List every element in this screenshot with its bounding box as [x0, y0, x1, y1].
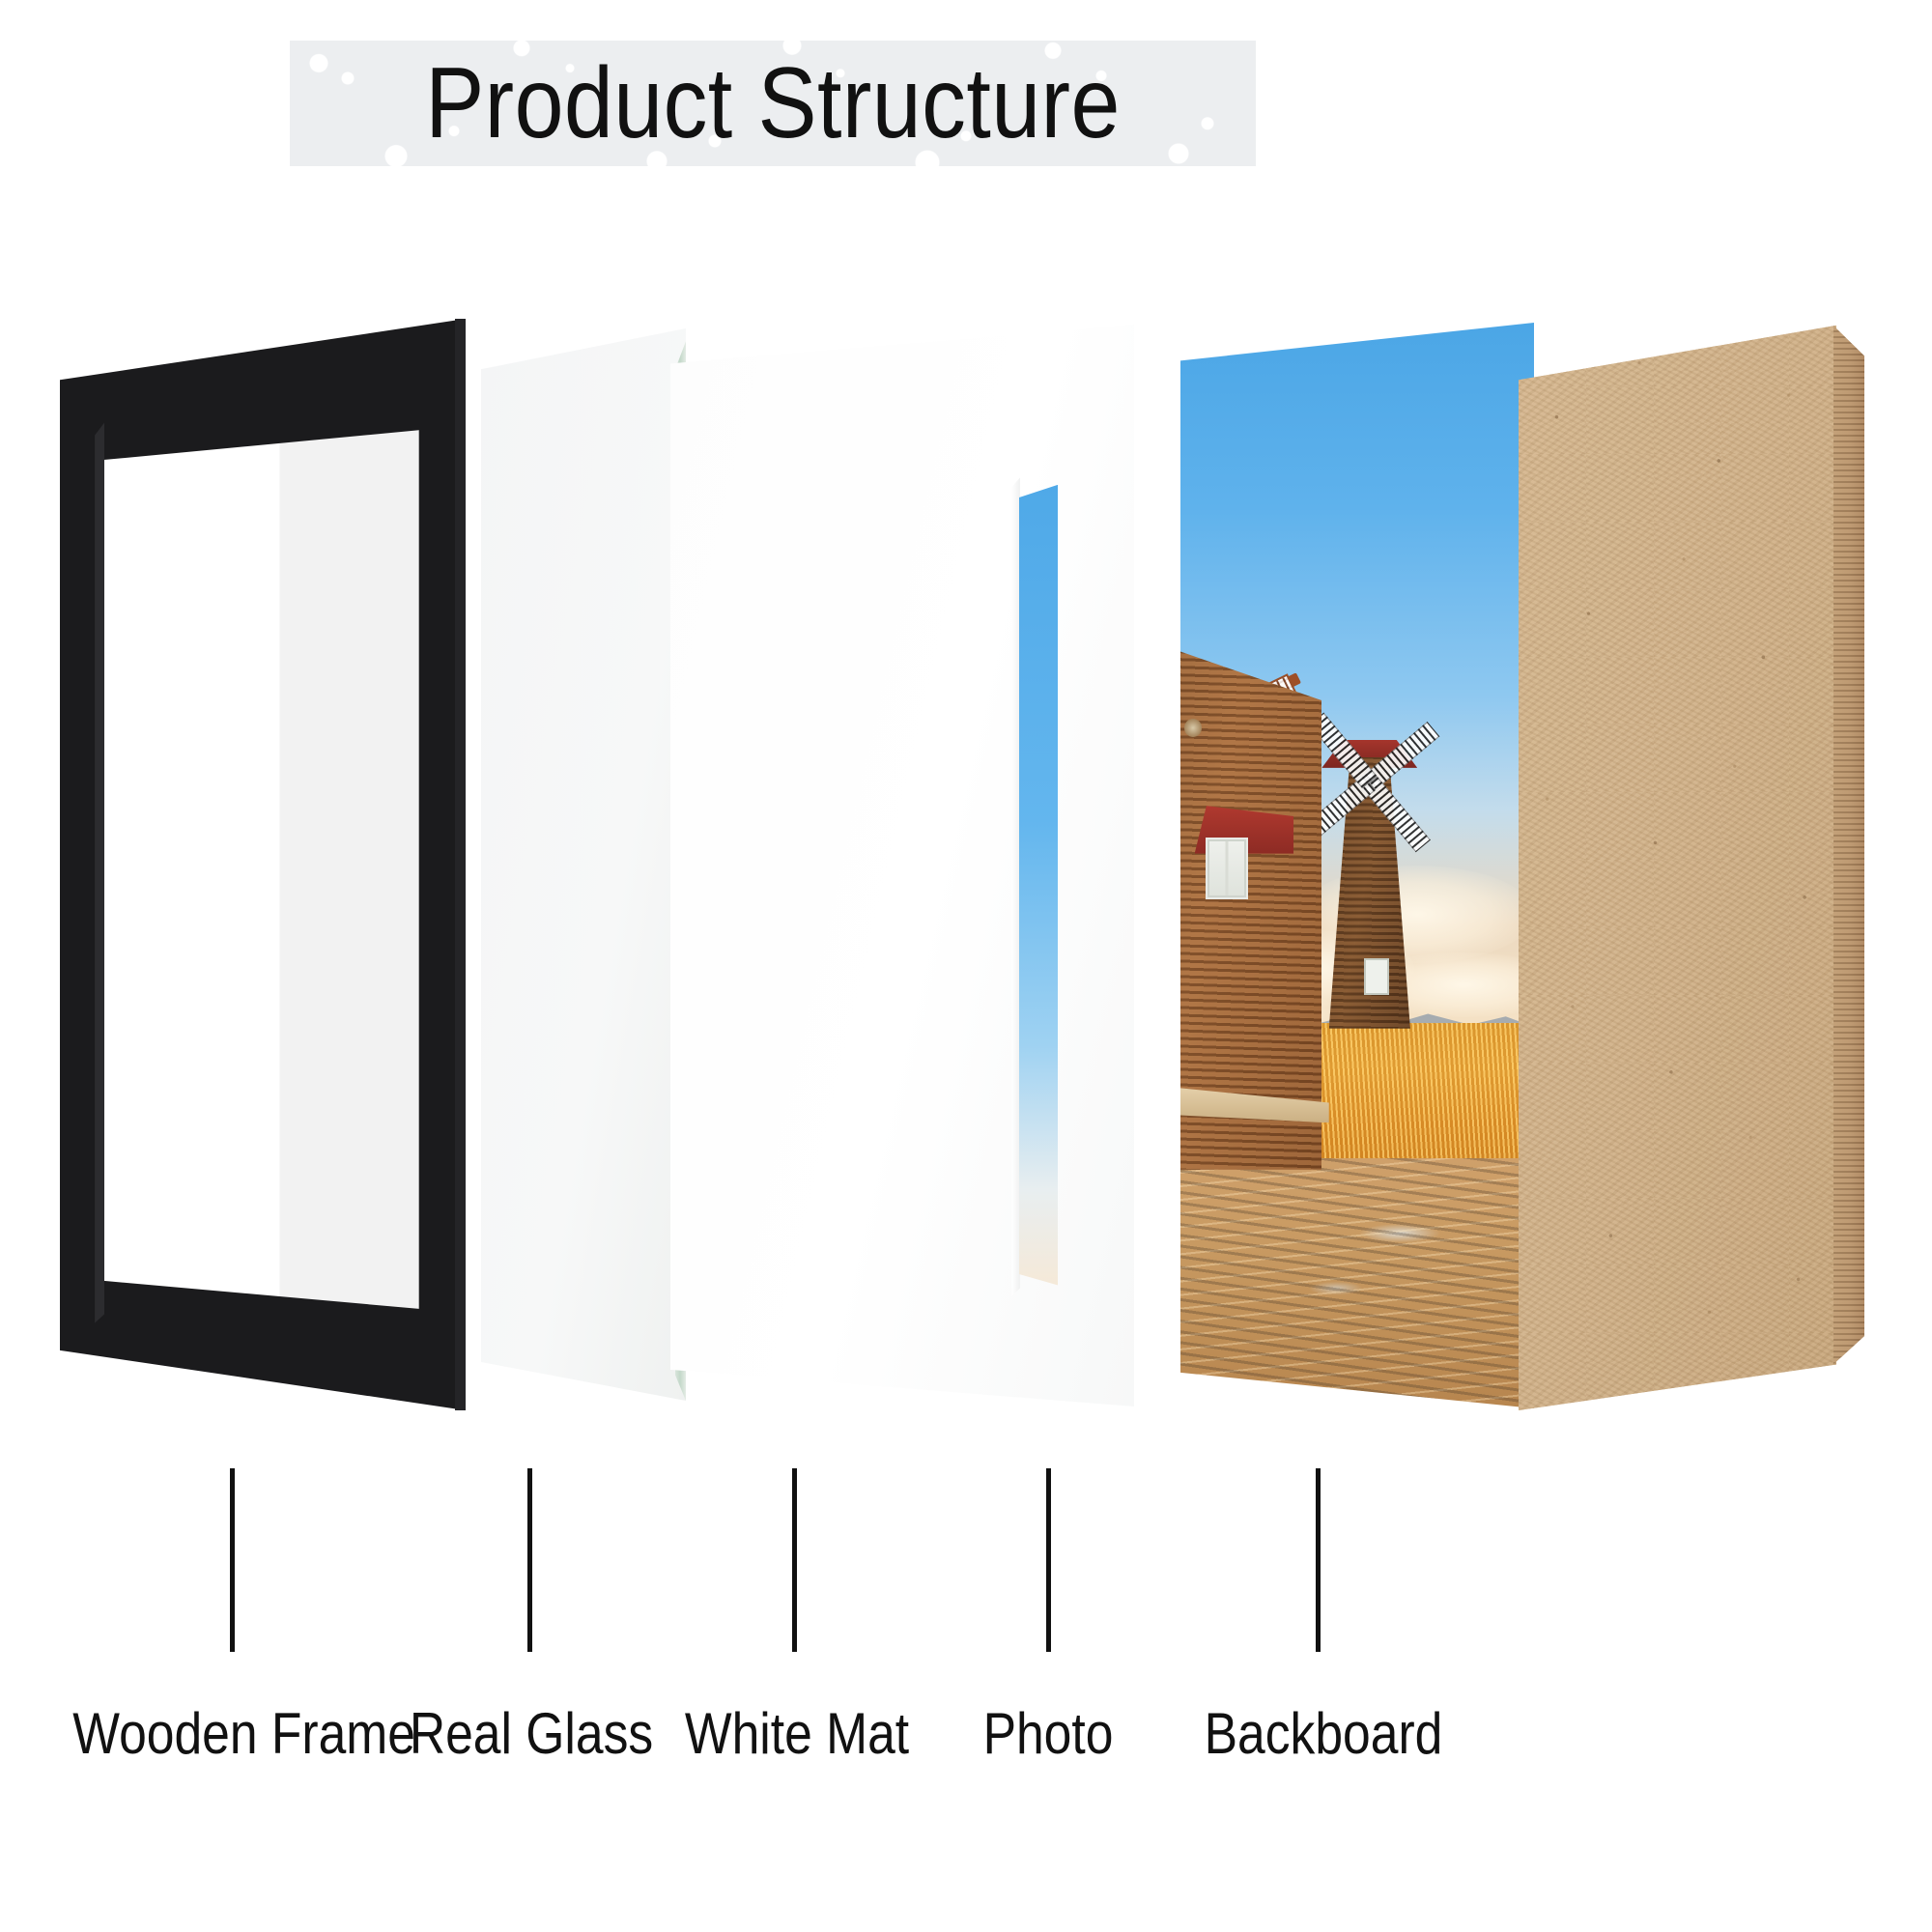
frame-side-edge	[455, 319, 466, 1410]
frame-inner-bevel	[95, 417, 104, 1323]
mat-window-sky-glimpse	[1019, 485, 1058, 1286]
layer-real-glass	[481, 328, 686, 1401]
layer-backboard	[1519, 319, 1864, 1410]
glass-pane	[481, 328, 686, 1401]
leader-line-white-mat	[792, 1468, 797, 1652]
frame-opening	[102, 430, 419, 1309]
leader-line-photo	[1046, 1468, 1051, 1652]
callout-label-real-glass: Real Glass	[398, 1700, 664, 1767]
photo-mill-window	[1206, 838, 1248, 900]
backboard-thickness-edge	[1833, 319, 1864, 1410]
layer-wooden-frame	[60, 319, 466, 1410]
mat-window-opening	[1019, 485, 1058, 1286]
callout-label-backboard: Backboard	[1195, 1700, 1453, 1767]
callout-label-wooden-frame: Wooden Frame	[72, 1700, 396, 1767]
layer-white-mat	[670, 325, 1134, 1406]
callout-label-white-mat: White Mat	[676, 1700, 917, 1767]
leader-line-wooden-frame	[230, 1468, 235, 1652]
leader-line-backboard	[1316, 1468, 1321, 1652]
mat-board	[670, 325, 1134, 1406]
photo-sandy-ground	[1180, 1158, 1534, 1408]
photo-windmill2-window	[1364, 958, 1389, 995]
backboard-face	[1519, 319, 1836, 1410]
windmill-photograph	[1180, 323, 1534, 1408]
leader-line-real-glass	[527, 1468, 532, 1652]
callout-label-photo: Photo	[940, 1700, 1156, 1767]
exploded-view-diagram: Wooden Frame Real Glass White Mat Photo …	[0, 0, 1932, 1932]
layer-photo	[1180, 323, 1534, 1408]
